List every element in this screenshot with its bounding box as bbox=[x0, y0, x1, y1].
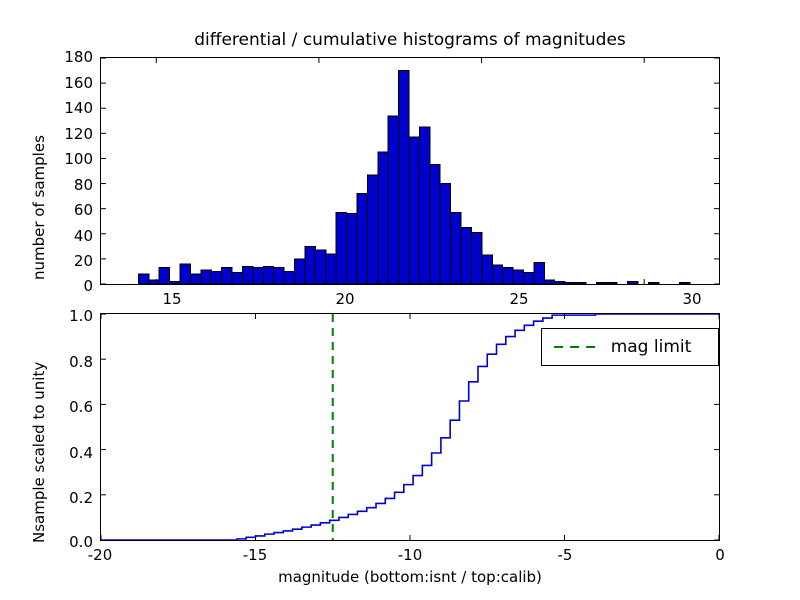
xaxis-label: magnitude (bottom:isnt / top:calib) bbox=[100, 568, 720, 586]
bottom-xtick-m20: -20 bbox=[80, 546, 120, 564]
figure-canvas: differential / cumulative histograms of … bbox=[0, 0, 800, 600]
top-xtick-30: 30 bbox=[672, 290, 712, 308]
bottom-xtick-m10: -10 bbox=[390, 546, 430, 564]
top-xtick-15: 15 bbox=[152, 290, 192, 308]
differential-histogram-plot bbox=[101, 58, 719, 284]
top-xtick-20: 20 bbox=[325, 290, 365, 308]
legend[interactable]: mag limit bbox=[541, 328, 719, 366]
bottom-xtick-m5: -5 bbox=[545, 546, 585, 564]
bottom-xtick-m15: -15 bbox=[235, 546, 275, 564]
figure-title: differential / cumulative histograms of … bbox=[100, 30, 720, 50]
bottom-yaxis-label: Nsample scaled to unity bbox=[30, 362, 48, 543]
top-xtick-25: 25 bbox=[499, 290, 539, 308]
differential-histogram-panel bbox=[100, 57, 720, 285]
top-yaxis-label: number of samples bbox=[30, 135, 48, 280]
top-ytick-160: 160 bbox=[40, 74, 93, 92]
bottom-ytick-10: 1.0 bbox=[40, 307, 93, 325]
mag-limit-line-icon bbox=[552, 340, 598, 354]
bottom-xtick-0: 0 bbox=[700, 546, 740, 564]
top-ytick-180: 180 bbox=[40, 48, 93, 66]
top-ytick-140: 140 bbox=[40, 99, 93, 117]
legend-label-mag-limit: mag limit bbox=[598, 337, 708, 357]
